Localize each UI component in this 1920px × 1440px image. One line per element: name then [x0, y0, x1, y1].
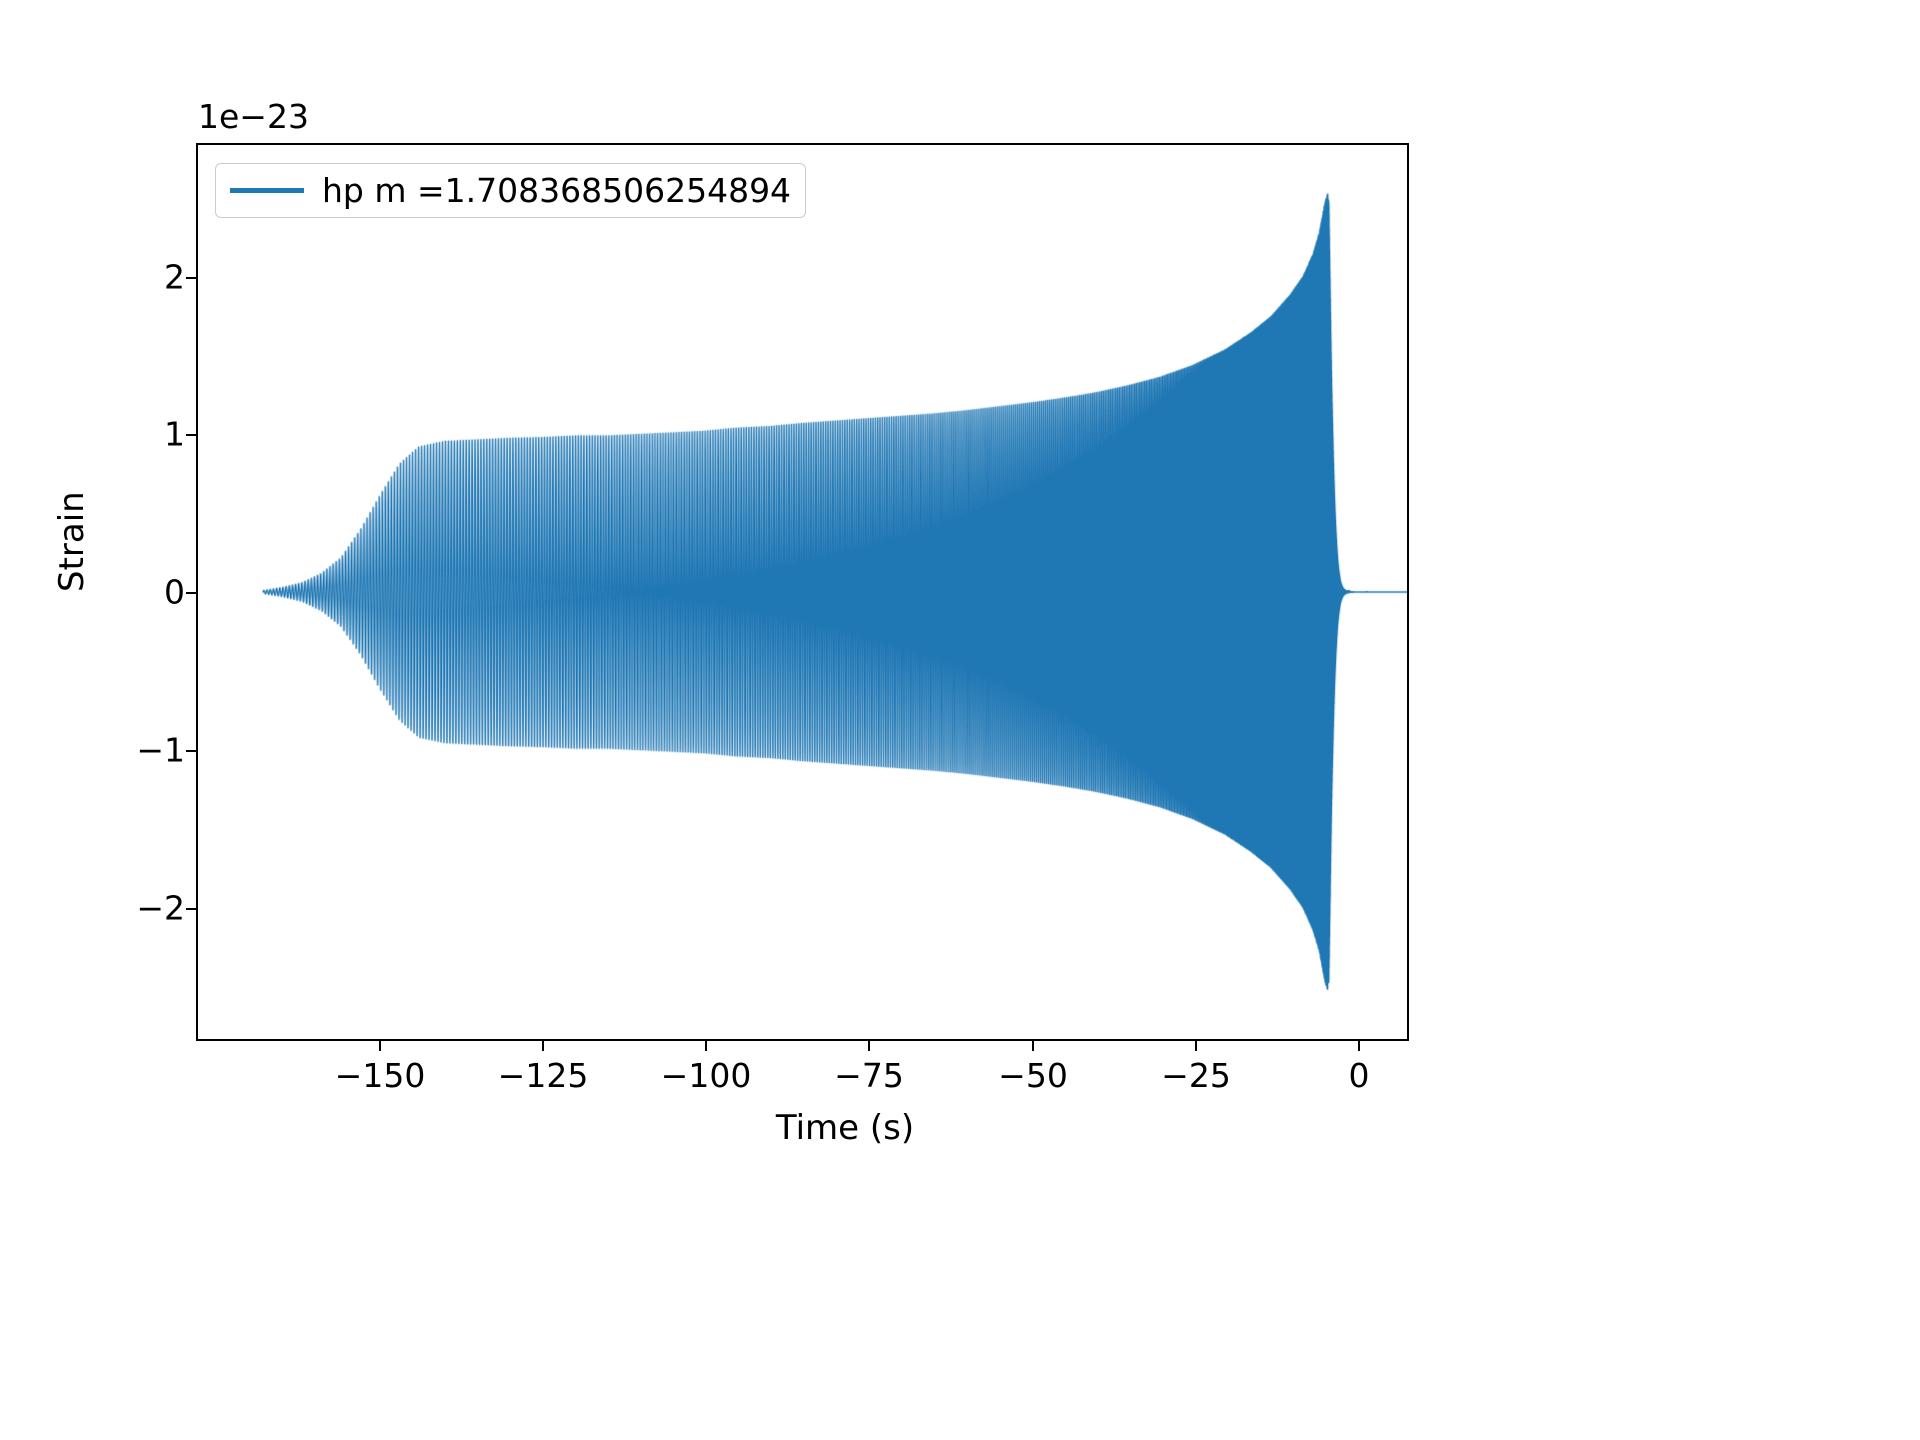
x-tick-label-neg50: −50 — [998, 1056, 1068, 1095]
x-tick-mark-neg100 — [705, 1041, 707, 1051]
y-tick-mark-1 — [186, 434, 196, 436]
x-tick-label-neg150: −150 — [335, 1056, 426, 1095]
x-tick-label-neg100: −100 — [661, 1056, 752, 1095]
x-tick-label-neg125: −125 — [498, 1056, 589, 1095]
y-tick-label-neg2: −2 — [136, 889, 185, 928]
y-tick-mark-2 — [186, 277, 196, 279]
x-tick-mark-neg75 — [868, 1041, 870, 1051]
x-tick-mark-neg150 — [379, 1041, 381, 1051]
legend-color-swatch-hp — [230, 188, 304, 193]
legend-box[interactable]: hp m =1.708368506254894 — [215, 163, 806, 218]
waveform-plot — [198, 145, 1407, 1039]
x-tick-label-0: 0 — [1349, 1056, 1370, 1095]
y-tick-mark-0 — [186, 592, 196, 594]
x-tick-label-neg75: −75 — [834, 1056, 904, 1095]
x-tick-mark-neg125 — [542, 1041, 544, 1051]
y-tick-label-neg1: −1 — [136, 731, 185, 770]
y-tick-mark-neg1 — [186, 750, 196, 752]
figure-canvas: 1e−23 2 1 0 −1 −2 −150 −125 −100 −75 −50… — [0, 0, 1920, 1440]
legend-label-hp: hp m =1.708368506254894 — [322, 174, 791, 207]
y-tick-label-2: 2 — [164, 258, 185, 297]
y-tick-mark-neg2 — [186, 908, 196, 910]
y-axis-title: Strain — [52, 491, 92, 592]
x-axis-title: Time (s) — [0, 1108, 1920, 1148]
x-tick-mark-0 — [1358, 1041, 1360, 1051]
x-axis-title-text: Time (s) — [776, 1108, 914, 1148]
plot-axes — [196, 143, 1409, 1041]
y-axis-exponent-label: 1e−23 — [198, 97, 309, 136]
y-tick-label-0: 0 — [164, 573, 185, 612]
x-tick-label-neg25: −25 — [1161, 1056, 1231, 1095]
x-tick-mark-neg25 — [1195, 1041, 1197, 1051]
x-tick-mark-neg50 — [1032, 1041, 1034, 1051]
y-tick-label-1: 1 — [164, 415, 185, 454]
